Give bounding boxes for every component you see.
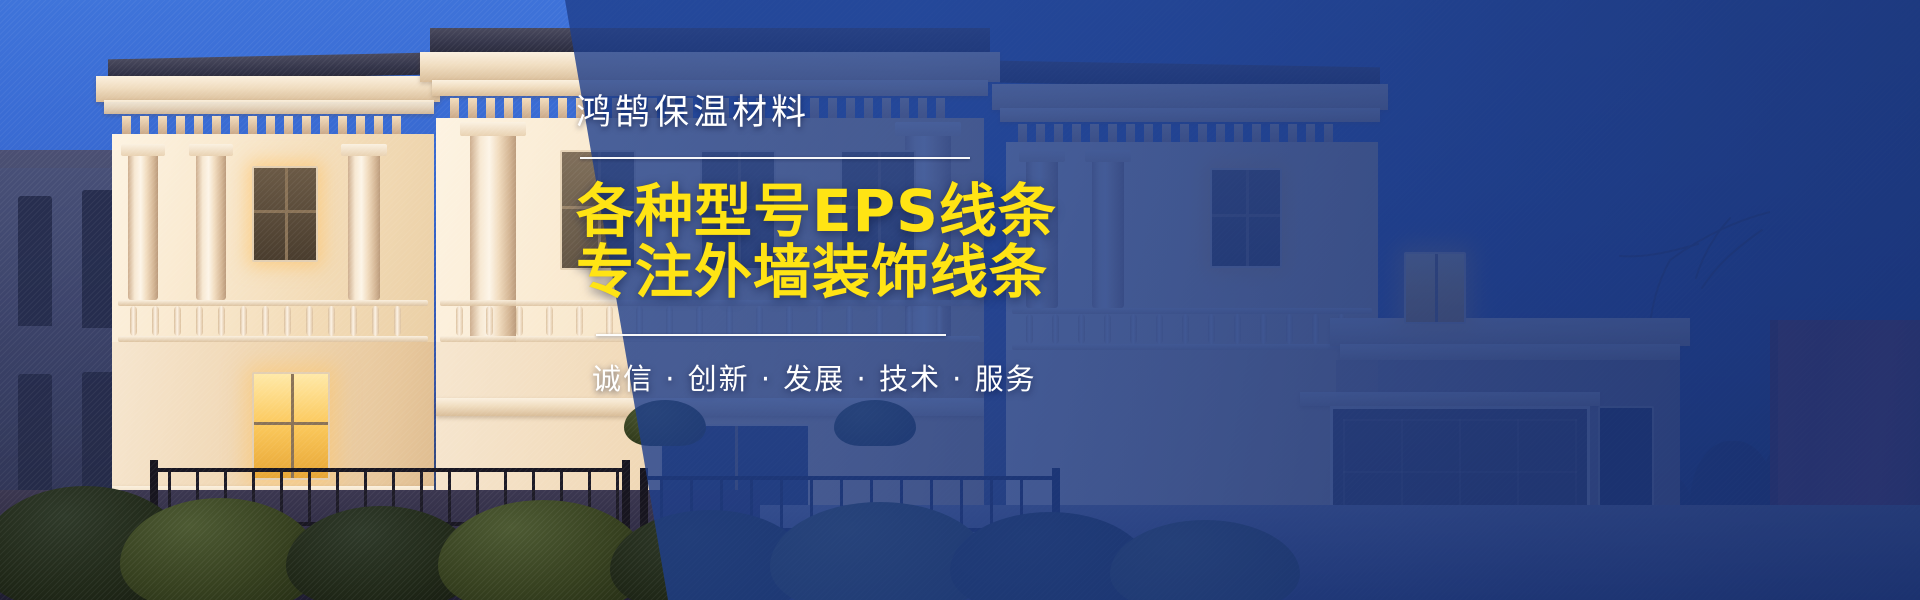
shrub	[624, 400, 706, 446]
left-wing-cornice	[96, 76, 440, 102]
column	[1092, 156, 1124, 308]
right-wing-cornice	[992, 84, 1388, 110]
left-wing-cornice-2	[104, 100, 434, 114]
center-cornice	[420, 52, 1000, 82]
right-wing-dentils	[1018, 124, 1364, 144]
headline-line-1: 各种型号EPS线条	[576, 181, 996, 242]
headline-group: 各种型号EPS线条 专注外墙装饰线条	[576, 181, 996, 304]
column-capital	[121, 144, 165, 156]
column-capital	[1085, 150, 1131, 162]
column-capital	[1019, 150, 1065, 162]
balustrade	[118, 300, 428, 342]
column-capital	[189, 144, 233, 156]
window-lit	[252, 372, 330, 480]
garage-lintel	[1300, 392, 1600, 406]
promo-banner: 鸿鹄保温材料 各种型号EPS线条 专注外墙装饰线条 诚信 · 创新 · 发展 ·…	[0, 0, 1920, 600]
right-wing-cornice-2	[1000, 108, 1380, 122]
shrub	[834, 400, 916, 446]
column	[196, 150, 226, 300]
garage-cornice	[1330, 318, 1690, 346]
window-lit	[1404, 252, 1466, 324]
column-capital	[341, 144, 387, 156]
banner-text-block: 鸿鹄保温材料 各种型号EPS线条 专注外墙装饰线条 诚信 · 创新 · 发展 ·…	[576, 96, 996, 398]
divider-top	[580, 157, 970, 159]
window-lit	[1210, 168, 1282, 268]
divider-bottom	[596, 334, 946, 336]
column	[348, 150, 380, 300]
column	[128, 150, 158, 300]
center-roof	[430, 28, 990, 54]
balustrade	[1012, 308, 1372, 350]
brand-name: 鸿鹄保温材料	[576, 96, 996, 131]
left-wing-dentils	[122, 116, 418, 136]
window-lit	[252, 166, 318, 262]
headline-line-2: 专注外墙装饰线条	[576, 242, 996, 303]
tagline: 诚信 · 创新 · 发展 · 技术 · 服务	[592, 356, 996, 398]
column-capital	[460, 122, 526, 136]
garage-cornice-2	[1340, 344, 1680, 360]
